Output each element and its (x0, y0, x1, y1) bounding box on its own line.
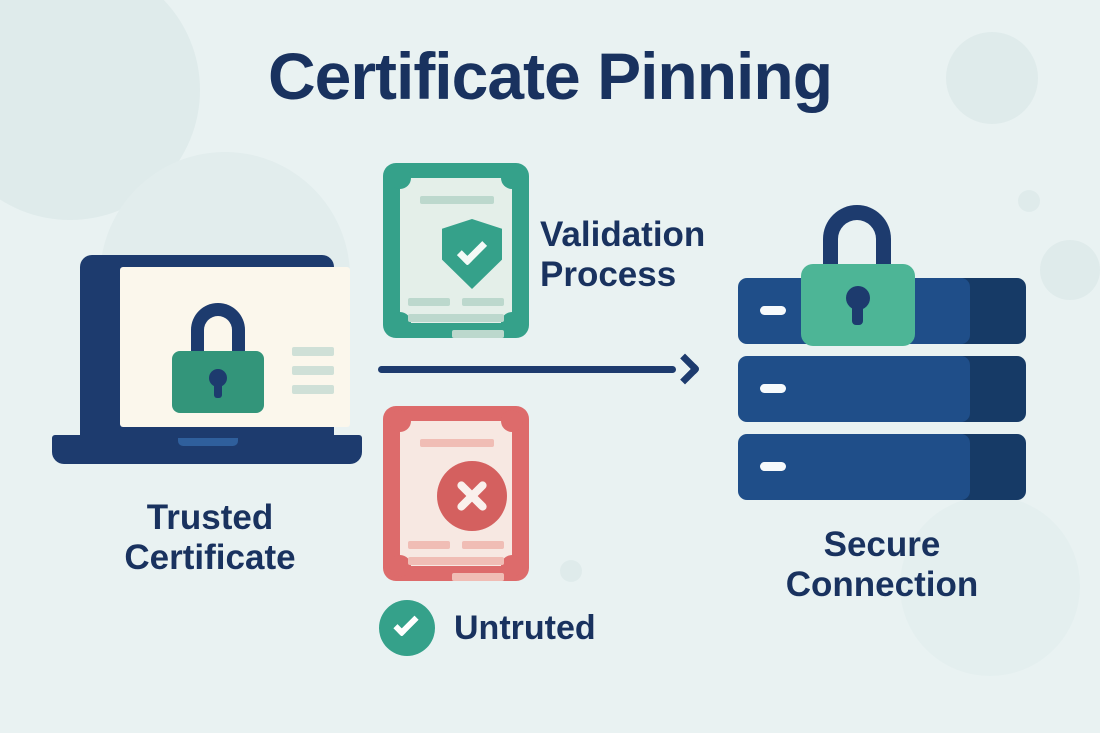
caption-line: Validation (540, 215, 750, 255)
server-unit (738, 434, 1026, 500)
certificate-text-line (452, 330, 504, 338)
padlock-icon (172, 303, 264, 413)
certificate-text-line (408, 541, 450, 549)
server-indicator-slot (760, 384, 786, 393)
secure-connection-caption: Secure Connection (712, 525, 1052, 605)
certificate-text-line (452, 573, 504, 581)
corner-notch (501, 555, 523, 577)
server-indicator-slot (760, 462, 786, 471)
check-glyph (457, 235, 487, 265)
check-glyph (393, 611, 418, 636)
caption-line: Certificate (40, 538, 380, 578)
certificate-text-line (462, 541, 504, 549)
server-indicator-slot (760, 306, 786, 315)
certificate-text-line (420, 439, 494, 447)
certificate-inner-panel (400, 421, 512, 566)
caption-line: Process (540, 255, 750, 295)
laptop-trackpad (178, 438, 238, 446)
page-title: Certificate Pinning (0, 38, 1100, 114)
arrow-shaft (378, 366, 676, 373)
shield-check-icon (442, 219, 502, 289)
check-circle-icon (379, 600, 435, 656)
badge-label: Untruted (454, 609, 596, 648)
corner-notch (501, 167, 523, 189)
certificate-text-line (408, 557, 504, 565)
caption-line: Connection (712, 565, 1052, 605)
background-circle (560, 560, 582, 582)
certificate-text-line (408, 298, 450, 306)
certificate-text-line (408, 314, 504, 322)
right-arrow-icon (378, 356, 698, 382)
server-front-panel (738, 434, 970, 500)
laptop-lid (80, 255, 334, 439)
arrow-head (669, 353, 700, 384)
padlock-keyhole (209, 369, 227, 387)
trusted-certificate-caption: Trusted Certificate (40, 498, 380, 578)
server-stack-illustration (738, 278, 1026, 500)
circle-x-icon (437, 461, 507, 531)
caption-line: Trusted (40, 498, 380, 538)
corner-notch (389, 410, 411, 432)
caption-line: Secure (712, 525, 1052, 565)
validation-process-caption: Validation Process (540, 215, 750, 295)
corner-notch (389, 167, 411, 189)
screen-text-line (292, 385, 334, 394)
certificate-text-line (462, 298, 504, 306)
screen-text-line (292, 366, 334, 375)
infographic-canvas: Certificate Pinning Trusted Certificate (0, 0, 1100, 733)
laptop-screen (120, 267, 350, 427)
certificate-text-line (420, 196, 494, 204)
untrusted-badge: Untruted (379, 600, 629, 656)
server-front-panel (738, 356, 970, 422)
server-unit (738, 356, 1026, 422)
background-circle (1040, 240, 1100, 300)
invalid-certificate-icon (383, 406, 529, 581)
padlock-keyhole (846, 286, 870, 310)
padlock-icon (801, 205, 915, 346)
corner-notch (501, 410, 523, 432)
screen-text-line (292, 347, 334, 356)
laptop-illustration (52, 255, 362, 470)
background-circle (1018, 190, 1040, 212)
valid-certificate-icon (383, 163, 529, 338)
corner-notch (501, 312, 523, 334)
certificate-inner-panel (400, 178, 512, 323)
